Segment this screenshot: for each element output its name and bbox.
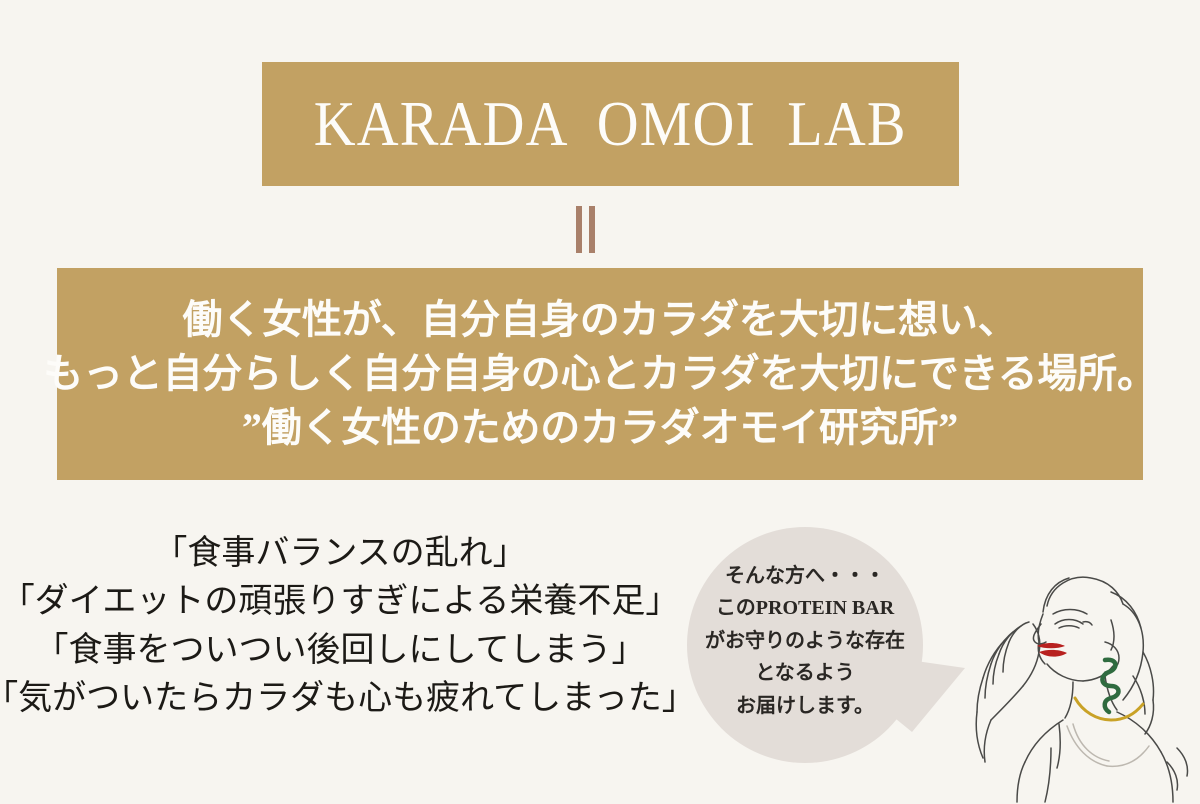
- double-bar-divider-icon: [576, 206, 624, 254]
- speech-bubble-text: そんな方へ・・・ このPROTEIN BAR がお守りのような存在 となるよう …: [680, 560, 930, 722]
- speech-bubble: そんな方へ・・・ このPROTEIN BAR がお守りのような存在 となるよう …: [640, 520, 980, 785]
- page-title: KARADA OMOI LAB: [314, 93, 907, 156]
- concerns-list: 「食事バランスの乱れ」 「ダイエットの頑張りすぎによる栄養不足」 「食事をついつ…: [30, 530, 650, 723]
- divider-bar-right: [589, 206, 595, 253]
- woman-line-art-illustration: [955, 548, 1200, 804]
- statement-line: もっと自分らしく自分自身の心とカラダを大切にできる場所。: [43, 347, 1157, 401]
- list-item: 「気がついたらカラダも心も疲れてしまった」: [0, 675, 696, 723]
- bubble-line: がお守りのような存在: [680, 625, 930, 657]
- bubble-line: そんな方へ・・・: [680, 560, 930, 592]
- statement-line: 働く女性が、自分自身のカラダを大切に想い、: [183, 293, 1018, 347]
- necklace: [1075, 698, 1143, 720]
- bubble-line: となるよう: [680, 657, 930, 689]
- list-item: 「ダイエットの頑張りすぎによる栄養不足」: [1, 578, 680, 626]
- statement-line: ”働く女性のためのカラダオモイ研究所”: [242, 401, 958, 455]
- divider-bar-left: [576, 206, 582, 253]
- woman-line-art-svg: [955, 548, 1200, 804]
- list-item: 「食事バランスの乱れ」: [153, 530, 526, 578]
- lips: [1037, 643, 1067, 657]
- mission-statement-band: 働く女性が、自分自身のカラダを大切に想い、 もっと自分らしく自分自身の心とカラダ…: [57, 268, 1143, 480]
- bubble-line: このPROTEIN BAR: [680, 592, 930, 624]
- brand-title-box: KARADA OMOI LAB: [262, 62, 959, 186]
- earring: [1102, 660, 1118, 712]
- bubble-line: お届けします。: [680, 690, 930, 722]
- list-item: 「食事をついつい後回しにしてしまう」: [35, 627, 646, 675]
- poster-canvas: KARADA OMOI LAB 働く女性が、自分自身のカラダを大切に想い、 もっ…: [0, 0, 1200, 800]
